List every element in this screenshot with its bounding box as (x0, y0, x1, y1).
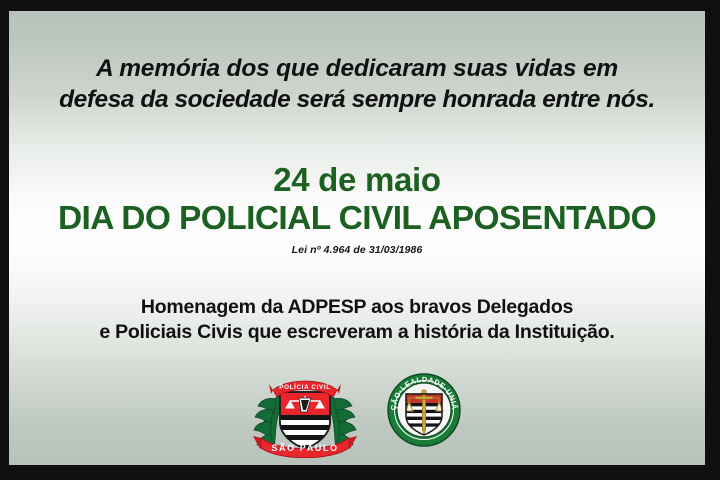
policia-civil-sao-paulo-crest-icon: POLÍCIA CIVIL SÃO PAULO (249, 366, 361, 465)
poster-canvas: A memória dos que dedicaram suas vidas e… (9, 11, 705, 465)
occasion-title: DIA DO POLICIAL CIVIL APOSENTADO (9, 200, 705, 238)
homage-line-1: Homenagem da ADPESP aos bravos Delegados (9, 295, 705, 320)
law-reference: Lei nº 4.964 de 31/03/1986 (9, 244, 705, 256)
date-title: 24 de maio (9, 161, 705, 199)
headline-line-1: A memória dos que dedicaram suas vidas e… (9, 53, 705, 84)
crest-banner-top-label: POLÍCIA CIVIL (279, 383, 331, 391)
headline-line-2: defesa da sociedade será sempre honrada … (9, 84, 705, 115)
homage-line-2: e Policiais Civis que escreveram a histó… (9, 320, 705, 345)
headline-text: A memória dos que dedicaram suas vidas e… (9, 53, 705, 115)
crest-container: POLÍCIA CIVIL SÃO PAULO (249, 366, 361, 465)
seal-container: AÇÃO·LEALDADE·UNIÃO ★ ADPESP ★ (383, 366, 465, 459)
poster-image: A memória dos que dedicaram suas vidas e… (0, 0, 720, 480)
adpesp-seal-icon: AÇÃO·LEALDADE·UNIÃO ★ ADPESP ★ (383, 366, 465, 454)
homage-text: Homenagem da ADPESP aos bravos Delegados… (9, 295, 705, 345)
logo-row: POLÍCIA CIVIL SÃO PAULO (9, 366, 705, 465)
crest-banner-bottom-label: SÃO PAULO (271, 443, 338, 453)
